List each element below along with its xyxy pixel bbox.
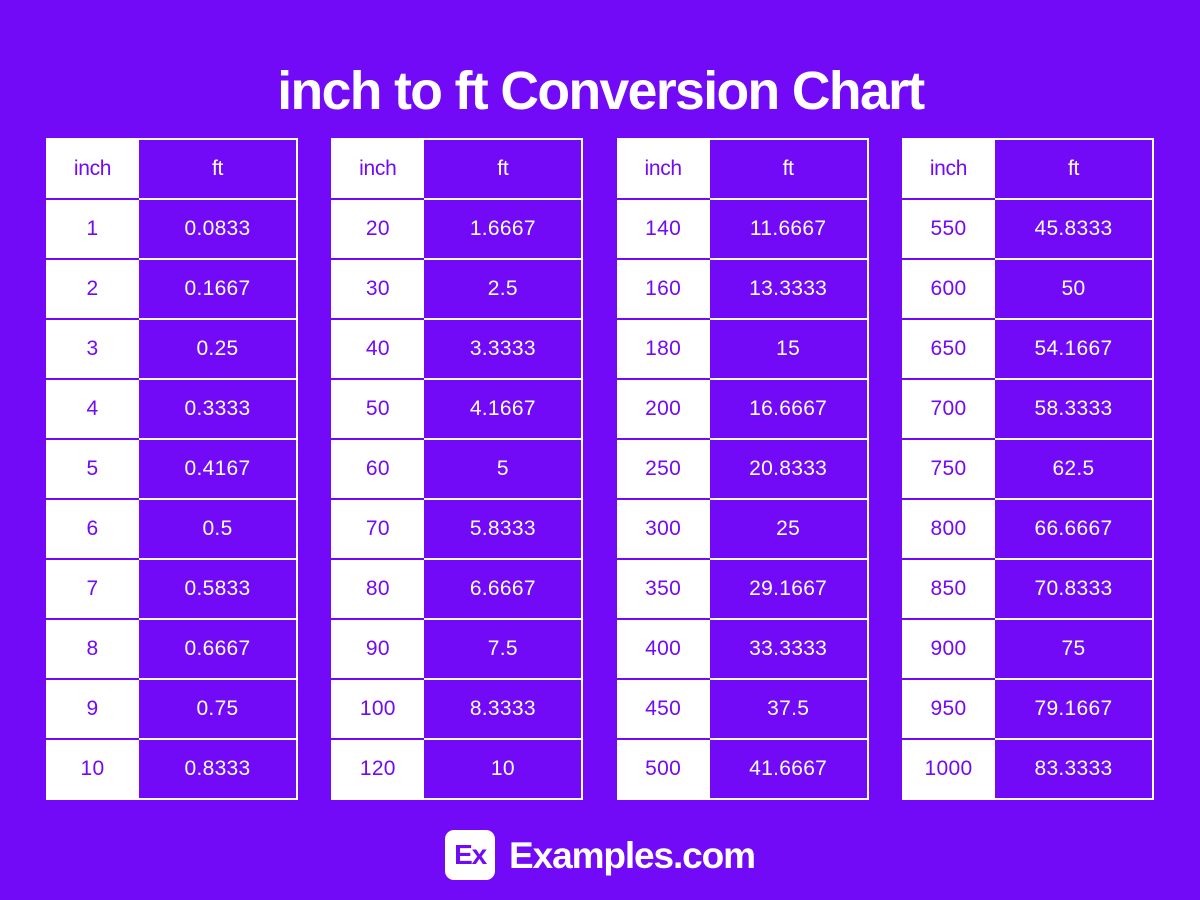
table-row: 60.5 — [47, 499, 297, 559]
cell-inch-value: 40 — [332, 319, 423, 379]
cell-ft-value: 5.8333 — [423, 499, 582, 559]
cell-inch-value: 50 — [332, 379, 423, 439]
table-row: 65054.1667 — [903, 319, 1153, 379]
cell-ft-value: 37.5 — [709, 679, 868, 739]
cell-ft-value: 33.3333 — [709, 619, 868, 679]
cell-inch-value: 160 — [618, 259, 709, 319]
table-row: 302.5 — [332, 259, 582, 319]
cell-inch-value: 120 — [332, 739, 423, 799]
table-row: 30.25 — [47, 319, 297, 379]
cell-inch-value: 140 — [618, 199, 709, 259]
cell-inch-value: 60 — [332, 439, 423, 499]
cell-ft-value: 16.6667 — [709, 379, 868, 439]
table-row: 60050 — [903, 259, 1153, 319]
cell-inch-value: 300 — [618, 499, 709, 559]
conversion-table-2: inchft201.6667302.5403.3333504.166760570… — [331, 138, 583, 800]
cell-ft-value: 58.3333 — [994, 379, 1153, 439]
cell-inch-value: 550 — [903, 199, 994, 259]
table-row: 30025 — [618, 499, 868, 559]
table-row: 16013.3333 — [618, 259, 868, 319]
conversion-table-1: inchft10.083320.166730.2540.333350.41676… — [46, 138, 298, 800]
table-header-row: inchft — [903, 139, 1153, 199]
table-row: 705.8333 — [332, 499, 582, 559]
cell-inch-value: 70 — [332, 499, 423, 559]
cell-inch-value: 180 — [618, 319, 709, 379]
table-row: 201.6667 — [332, 199, 582, 259]
cell-inch-value: 200 — [618, 379, 709, 439]
column-header-inch: inch — [47, 139, 138, 199]
cell-inch-value: 6 — [47, 499, 138, 559]
cell-ft-value: 7.5 — [423, 619, 582, 679]
cell-inch-value: 30 — [332, 259, 423, 319]
cell-ft-value: 54.1667 — [994, 319, 1153, 379]
cell-ft-value: 70.8333 — [994, 559, 1153, 619]
cell-ft-value: 50 — [994, 259, 1153, 319]
cell-ft-value: 10 — [423, 739, 582, 799]
column-header-inch: inch — [332, 139, 423, 199]
conversion-tables-container: inchft10.083320.166730.2540.333350.41676… — [46, 138, 1154, 800]
table-row: 75062.5 — [903, 439, 1153, 499]
cell-inch-value: 8 — [47, 619, 138, 679]
cell-inch-value: 850 — [903, 559, 994, 619]
cell-inch-value: 250 — [618, 439, 709, 499]
cell-inch-value: 3 — [47, 319, 138, 379]
table-row: 45037.5 — [618, 679, 868, 739]
table-row: 95079.1667 — [903, 679, 1153, 739]
cell-ft-value: 13.3333 — [709, 259, 868, 319]
cell-inch-value: 9 — [47, 679, 138, 739]
table-row: 90075 — [903, 619, 1153, 679]
cell-ft-value: 3.3333 — [423, 319, 582, 379]
table-row: 18015 — [618, 319, 868, 379]
table-row: 70.5833 — [47, 559, 297, 619]
cell-inch-value: 900 — [903, 619, 994, 679]
cell-ft-value: 0.75 — [138, 679, 297, 739]
cell-inch-value: 400 — [618, 619, 709, 679]
table-row: 605 — [332, 439, 582, 499]
cell-ft-value: 29.1667 — [709, 559, 868, 619]
cell-inch-value: 100 — [332, 679, 423, 739]
column-header-ft: ft — [138, 139, 297, 199]
table-row: 10.0833 — [47, 199, 297, 259]
column-header-inch: inch — [618, 139, 709, 199]
cell-ft-value: 20.8333 — [709, 439, 868, 499]
logo-mark-label: Ex — [454, 841, 486, 869]
cell-ft-value: 45.8333 — [994, 199, 1153, 259]
table-row: 20016.6667 — [618, 379, 868, 439]
column-header-ft: ft — [423, 139, 582, 199]
table-row: 100083.3333 — [903, 739, 1153, 799]
cell-inch-value: 1 — [47, 199, 138, 259]
table-row: 35029.1667 — [618, 559, 868, 619]
cell-ft-value: 15 — [709, 319, 868, 379]
cell-inch-value: 2 — [47, 259, 138, 319]
conversion-table-4: inchft55045.83336005065054.166770058.333… — [902, 138, 1154, 800]
cell-ft-value: 1.6667 — [423, 199, 582, 259]
cell-ft-value: 2.5 — [423, 259, 582, 319]
table-row: 504.1667 — [332, 379, 582, 439]
table-row: 25020.8333 — [618, 439, 868, 499]
conversion-table-3: inchft14011.666716013.33331801520016.666… — [617, 138, 869, 800]
table-row: 70058.3333 — [903, 379, 1153, 439]
cell-ft-value: 75 — [994, 619, 1153, 679]
cell-ft-value: 6.6667 — [423, 559, 582, 619]
cell-inch-value: 1000 — [903, 739, 994, 799]
table-row: 55045.8333 — [903, 199, 1153, 259]
table-row: 14011.6667 — [618, 199, 868, 259]
column-header-inch: inch — [903, 139, 994, 199]
cell-ft-value: 0.5 — [138, 499, 297, 559]
cell-inch-value: 20 — [332, 199, 423, 259]
table-row: 907.5 — [332, 619, 582, 679]
cell-inch-value: 80 — [332, 559, 423, 619]
cell-ft-value: 8.3333 — [423, 679, 582, 739]
table-row: 50.4167 — [47, 439, 297, 499]
cell-ft-value: 41.6667 — [709, 739, 868, 799]
cell-ft-value: 0.8333 — [138, 739, 297, 799]
table-row: 80066.6667 — [903, 499, 1153, 559]
cell-inch-value: 450 — [618, 679, 709, 739]
cell-inch-value: 650 — [903, 319, 994, 379]
cell-ft-value: 79.1667 — [994, 679, 1153, 739]
cell-inch-value: 7 — [47, 559, 138, 619]
cell-inch-value: 5 — [47, 439, 138, 499]
cell-ft-value: 0.0833 — [138, 199, 297, 259]
cell-inch-value: 350 — [618, 559, 709, 619]
column-header-ft: ft — [994, 139, 1153, 199]
cell-inch-value: 10 — [47, 739, 138, 799]
cell-inch-value: 90 — [332, 619, 423, 679]
brand-name: Examples.com — [509, 837, 755, 874]
conversion-chart-page: inch to ft Conversion Chart inchft10.083… — [0, 0, 1200, 900]
cell-ft-value: 0.5833 — [138, 559, 297, 619]
footer-logo[interactable]: Ex Examples.com — [0, 830, 1200, 880]
cell-ft-value: 0.25 — [138, 319, 297, 379]
table-row: 100.8333 — [47, 739, 297, 799]
examples-logo-icon: Ex — [445, 830, 495, 880]
cell-inch-value: 500 — [618, 739, 709, 799]
table-header-row: inchft — [618, 139, 868, 199]
cell-inch-value: 800 — [903, 499, 994, 559]
table-row: 12010 — [332, 739, 582, 799]
cell-ft-value: 25 — [709, 499, 868, 559]
page-title: inch to ft Conversion Chart — [277, 62, 923, 120]
cell-ft-value: 5 — [423, 439, 582, 499]
table-row: 40.3333 — [47, 379, 297, 439]
column-header-ft: ft — [709, 139, 868, 199]
cell-ft-value: 83.3333 — [994, 739, 1153, 799]
cell-inch-value: 750 — [903, 439, 994, 499]
table-row: 50041.6667 — [618, 739, 868, 799]
cell-ft-value: 66.6667 — [994, 499, 1153, 559]
cell-ft-value: 0.4167 — [138, 439, 297, 499]
table-row: 1008.3333 — [332, 679, 582, 739]
cell-ft-value: 0.6667 — [138, 619, 297, 679]
cell-ft-value: 11.6667 — [709, 199, 868, 259]
table-row: 403.3333 — [332, 319, 582, 379]
table-header-row: inchft — [47, 139, 297, 199]
table-row: 85070.8333 — [903, 559, 1153, 619]
cell-inch-value: 700 — [903, 379, 994, 439]
table-row: 80.6667 — [47, 619, 297, 679]
cell-inch-value: 4 — [47, 379, 138, 439]
cell-inch-value: 950 — [903, 679, 994, 739]
table-row: 20.1667 — [47, 259, 297, 319]
cell-ft-value: 0.1667 — [138, 259, 297, 319]
cell-inch-value: 600 — [903, 259, 994, 319]
cell-ft-value: 62.5 — [994, 439, 1153, 499]
table-row: 90.75 — [47, 679, 297, 739]
cell-ft-value: 0.3333 — [138, 379, 297, 439]
table-row: 806.6667 — [332, 559, 582, 619]
table-header-row: inchft — [332, 139, 582, 199]
cell-ft-value: 4.1667 — [423, 379, 582, 439]
table-row: 40033.3333 — [618, 619, 868, 679]
